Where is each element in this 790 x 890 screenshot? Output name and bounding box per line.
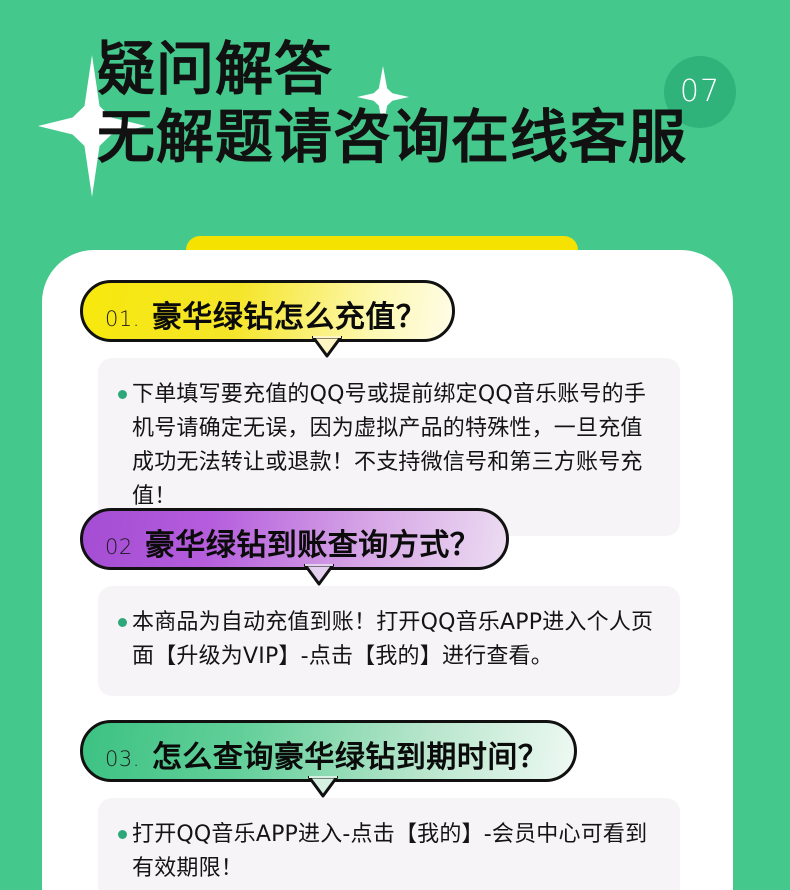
title-line-primary: 疑问解答 — [97, 40, 757, 98]
faq-card: 01. 豪华绿钻怎么充值？ 下单填写要充值的QQ号或提前绑定QQ音乐账号的手机号… — [42, 250, 733, 890]
bullet-icon — [118, 618, 127, 627]
question-number: 01. — [105, 307, 140, 331]
question-bubble-wrap: 03. 怎么查询豪华绿钻到期时间？ — [80, 720, 577, 782]
page-header: 07 疑问解答 无解题请咨询在线客服 — [0, 0, 790, 232]
question-number: 02 — [105, 535, 133, 559]
question-bubble[interactable]: 03. 怎么查询豪华绿钻到期时间？ — [80, 720, 577, 782]
faq-item: 03. 怎么查询豪华绿钻到期时间？ 打开QQ音乐APP进入-点击【我的】-会员中… — [42, 720, 733, 890]
question-text: 怎么查询豪华绿钻到期时间？ — [152, 732, 549, 776]
bubble-tail-icon — [312, 336, 342, 358]
faq-item: 01. 豪华绿钻怎么充值？ 下单填写要充值的QQ号或提前绑定QQ音乐账号的手机号… — [42, 280, 733, 536]
bubble-tail-icon — [304, 564, 334, 586]
answer-text: 本商品为自动充值到账！打开QQ音乐APP进入个人页面【升级为VIP】-点击【我的… — [132, 606, 658, 674]
title-line-secondary: 无解题请咨询在线客服 — [97, 108, 757, 166]
bullet-icon — [118, 390, 127, 399]
answer-text: 打开QQ音乐APP进入-点击【我的】-会员中心可看到有效期限！ — [132, 818, 658, 886]
question-bubble[interactable]: 01. 豪华绿钻怎么充值？ — [80, 280, 455, 342]
answer-panel: 本商品为自动充值到账！打开QQ音乐APP进入个人页面【升级为VIP】-点击【我的… — [98, 586, 680, 696]
question-text: 豪华绿钻怎么充值？ — [152, 292, 427, 336]
page-title: 疑问解答 无解题请咨询在线客服 — [97, 40, 757, 166]
bubble-tail-icon — [308, 776, 338, 798]
faq-page: 07 疑问解答 无解题请咨询在线客服 01. 豪华绿钻怎么充值？ — [0, 0, 790, 890]
answer-text: 下单填写要充值的QQ号或提前绑定QQ音乐账号的手机号请确定无误，因为虚拟产品的特… — [132, 378, 658, 514]
bullet-icon — [118, 830, 127, 839]
question-text: 豪华绿钻到账查询方式？ — [145, 520, 481, 564]
question-bubble-wrap: 02 豪华绿钻到账查询方式？ — [80, 508, 509, 570]
answer-panel: 打开QQ音乐APP进入-点击【我的】-会员中心可看到有效期限！ — [98, 798, 680, 890]
faq-item: 02 豪华绿钻到账查询方式？ 本商品为自动充值到账！打开QQ音乐APP进入个人页… — [42, 508, 733, 696]
question-number: 03. — [105, 747, 140, 771]
question-bubble[interactable]: 02 豪华绿钻到账查询方式？ — [80, 508, 509, 570]
question-bubble-wrap: 01. 豪华绿钻怎么充值？ — [80, 280, 455, 342]
